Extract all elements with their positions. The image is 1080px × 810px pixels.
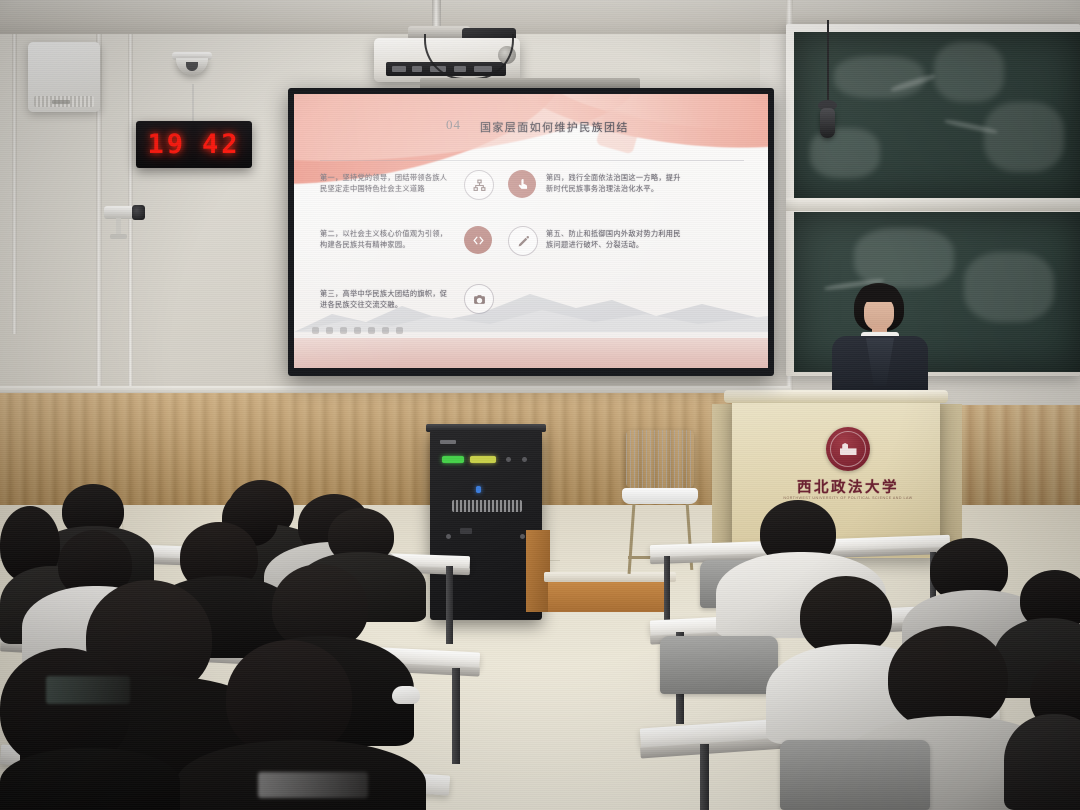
slide-bullet-2: 第二，以社会主义核心价值观为引领，构建各民族共有精神家园。: [320, 228, 448, 250]
security-camera-lens: [132, 205, 145, 220]
green-chalkboard-upper: [794, 32, 1080, 198]
projector-mount-pole: [432, 0, 441, 28]
slide-section-number: 04: [446, 117, 461, 133]
presenter-fringe: [858, 285, 900, 302]
classroom-photo: 19 42 西北政法大学 NORTHWEST UNIVERSITY O: [0, 0, 1080, 810]
slide-bullet-1: 第一，坚持党的领导，团结带领各族人民坚定走中国特色社会主义道路: [320, 172, 448, 194]
microphone-cord: [827, 20, 829, 112]
rack-knob: [522, 457, 527, 462]
highlighter-icon[interactable]: [354, 327, 361, 334]
pen-icon[interactable]: [326, 327, 333, 334]
mountain-silhouette: [294, 286, 768, 332]
student-head: [226, 640, 352, 756]
desk-leg: [700, 744, 709, 810]
led-wall-clock: 19 42: [136, 121, 252, 168]
wall-unit-logo: [52, 100, 70, 104]
slide-footer-band: [294, 338, 768, 368]
slide-bullet-5: 第五、防止和抵御国内外敌对势力利用民族问题进行破坏、分裂活动。: [546, 228, 686, 250]
chalk-smudge: [984, 102, 1064, 172]
clock-minutes: 42: [202, 129, 241, 160]
security-camera-mount: [110, 234, 127, 239]
hand-click-icon: [508, 170, 536, 198]
zoom-icon[interactable]: [382, 327, 389, 334]
rack-knob: [520, 534, 525, 539]
crest-glyph: [840, 443, 857, 455]
desk-leg: [446, 566, 453, 644]
stage-side: [526, 530, 550, 612]
university-crest-icon: [826, 427, 870, 471]
wainscot-trim: [0, 386, 790, 393]
shirt-graphic-text: [258, 772, 368, 798]
desk-leg: [452, 668, 460, 764]
pointer-icon[interactable]: [312, 327, 319, 334]
rack-led-green: [442, 456, 464, 463]
rack-led-blue: [476, 486, 481, 493]
chalkboard-divider: [786, 198, 1080, 211]
slide-bullet-4: 第四，践行全面依法治国这一方略，提升新时代民族事务治理法治化水平。: [546, 172, 686, 194]
chalk-smudge: [834, 56, 924, 98]
more-icon[interactable]: [396, 327, 403, 334]
podium-top-surface: [724, 390, 948, 403]
slides-icon[interactable]: [368, 327, 375, 334]
projector-port-2: [412, 66, 422, 72]
seat-back: [780, 740, 930, 810]
slide-title: 国家层面如何维护民族团结: [480, 119, 629, 135]
rack-ventilation-grill: [452, 500, 522, 512]
chalk-smudge: [934, 42, 1004, 102]
projection-screen: 04 国家层面如何维护民族团结 第一，坚持党的领导，团结带领各族人民坚定走中国特…: [294, 94, 768, 368]
rack-knob: [506, 457, 511, 462]
stage-chair-seat: [622, 488, 698, 504]
stage-chair-back: [626, 430, 694, 488]
pen-icon: [508, 226, 538, 256]
presentation-slide: 04 国家层面如何维护民族团结 第一，坚持党的领导，团结带领各族人民坚定走中国特…: [294, 94, 768, 368]
clock-power-wire: [192, 84, 194, 122]
rack-knob: [446, 534, 451, 539]
student-shoulders: [1004, 714, 1080, 810]
projector-port-1: [392, 66, 406, 72]
shirt-graphic-text: [46, 676, 130, 704]
rack-led-yellow: [470, 456, 496, 463]
computer-mouse: [392, 686, 420, 704]
wall-conduit-3: [12, 34, 17, 334]
code-brackets-icon: [464, 226, 492, 254]
presenter-toolbar[interactable]: [312, 327, 403, 334]
rack-label: [440, 440, 456, 444]
chalk-smudge: [964, 252, 1054, 322]
chalk-smudge: [810, 128, 880, 178]
marker-icon[interactable]: [340, 327, 347, 334]
org-chart-icon: [464, 170, 494, 200]
university-name: 西北政法大学: [786, 476, 910, 497]
stage-step-top: [544, 572, 676, 582]
slide-divider: [320, 160, 744, 161]
student-shoulders: [0, 748, 180, 810]
crest-inner-ring: [830, 431, 866, 467]
student-head: [888, 626, 1008, 730]
hanging-microphone: [820, 108, 835, 138]
seat-back: [660, 636, 778, 694]
clock-hours: 19: [147, 129, 186, 160]
rack-button[interactable]: [460, 528, 472, 534]
stage-step-face: [548, 580, 670, 612]
